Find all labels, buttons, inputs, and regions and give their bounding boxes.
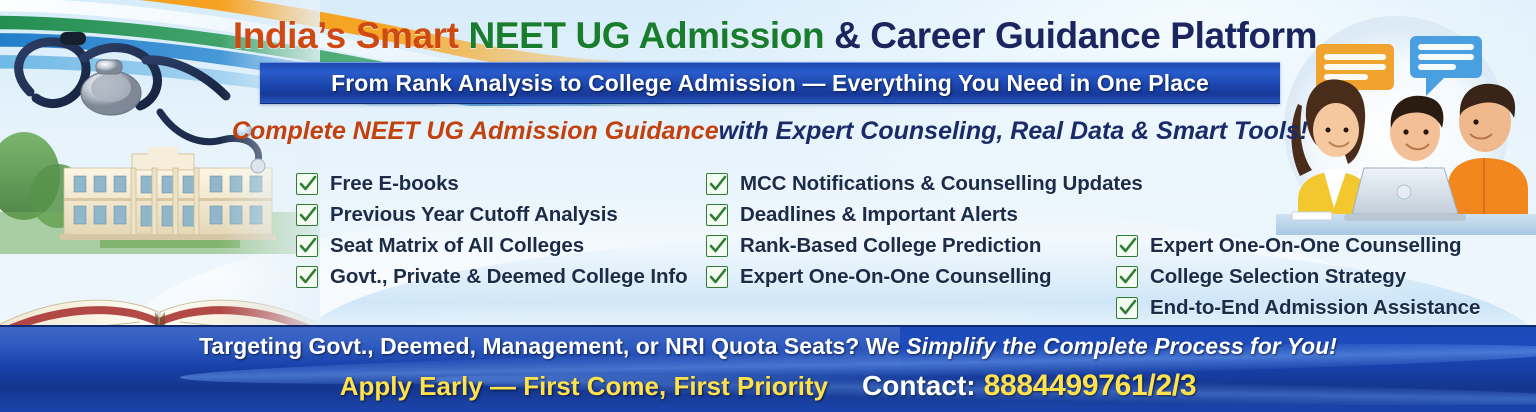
promotional-banner: India’s Smart NEET UG Admission & Career… xyxy=(0,0,1536,412)
feature-item: Previous Year Cutoff Analysis xyxy=(296,199,688,230)
checkmark-icon xyxy=(706,204,728,226)
feature-item: Govt., Private & Deemed College Info xyxy=(296,261,688,292)
feature-label: Expert One-On-One Counselling xyxy=(740,265,1051,289)
feature-label: Expert One-On-One Counselling xyxy=(1150,234,1461,258)
checkmark-icon xyxy=(706,173,728,195)
feature-column-2: MCC Notifications & Counselling Updates … xyxy=(706,168,1143,292)
checkmark-icon xyxy=(296,235,318,257)
checkmark-icon xyxy=(706,266,728,288)
feature-label: End-to-End Admission Assistance xyxy=(1150,296,1480,320)
feature-label: Deadlines & Important Alerts xyxy=(740,203,1018,227)
checkmark-icon xyxy=(1116,297,1138,319)
feature-label: MCC Notifications & Counselling Updates xyxy=(740,172,1143,196)
contact-label: Contact: xyxy=(862,370,976,402)
feature-item: College Selection Strategy xyxy=(1116,261,1480,292)
feature-item: Expert One-On-One Counselling xyxy=(1116,230,1480,261)
checkmark-icon xyxy=(1116,235,1138,257)
feature-column-3: Expert One-On-One Counselling College Se… xyxy=(1116,230,1480,323)
feature-label: Govt., Private & Deemed College Info xyxy=(330,265,688,289)
bar-headline: Targeting Govt., Deemed, Management, or … xyxy=(0,333,1536,360)
contact-phone-number[interactable]: 8884499761/2/3 xyxy=(984,369,1197,403)
checkmark-icon xyxy=(296,173,318,195)
contact-group[interactable]: Contact: 8884499761/2/3 xyxy=(862,369,1196,403)
feature-label: Previous Year Cutoff Analysis xyxy=(330,203,618,227)
bar-contact-row: Apply Early — First Come, First Priority… xyxy=(0,369,1536,403)
feature-label: Rank-Based College Prediction xyxy=(740,234,1041,258)
feature-item: Deadlines & Important Alerts xyxy=(706,199,1143,230)
checkmark-icon xyxy=(1116,266,1138,288)
feature-item: End-to-End Admission Assistance xyxy=(1116,292,1480,323)
bar-headline-plain: Targeting Govt., Deemed, Management, or … xyxy=(199,333,906,359)
feature-item: Expert One-On-One Counselling xyxy=(706,261,1143,292)
feature-label: College Selection Strategy xyxy=(1150,265,1406,289)
feature-item: MCC Notifications & Counselling Updates xyxy=(706,168,1143,199)
feature-item: Free E-books xyxy=(296,168,688,199)
feature-item: Rank-Based College Prediction xyxy=(706,230,1143,261)
checkmark-icon xyxy=(296,204,318,226)
checkmark-icon xyxy=(296,266,318,288)
bar-headline-italic: Simplify the Complete Process for You! xyxy=(906,333,1337,359)
apply-early-text: Apply Early — First Come, First Priority xyxy=(340,371,828,402)
feature-label: Free E-books xyxy=(330,172,459,196)
bottom-call-to-action-bar: Targeting Govt., Deemed, Management, or … xyxy=(0,325,1536,412)
feature-label: Seat Matrix of All Colleges xyxy=(330,234,584,258)
checkmark-icon xyxy=(706,235,728,257)
feature-item: Seat Matrix of All Colleges xyxy=(296,230,688,261)
feature-column-1: Free E-books Previous Year Cutoff Analys… xyxy=(296,168,688,292)
